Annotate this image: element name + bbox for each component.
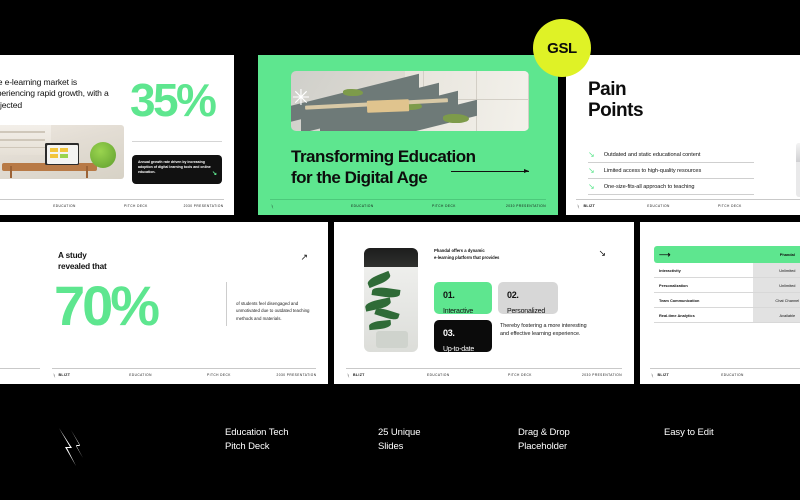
feature-easy-to-edit: Easy to Edit [664,426,714,440]
growth-note-text: Annual growth rate driven by increasing … [138,160,211,174]
feature-education-tech: Education Tech Pitch Deck [225,426,288,454]
feature-intro-line1: Phandal offers a dynamic [434,248,485,253]
feature-card-label: Personalized [507,308,549,315]
brand-logo: BLIZT [52,373,71,378]
slide-footer: EDUCATION PITCH DECK 2030 PRESENTATION [258,197,558,215]
arrow-down-right-icon: ↘ [588,167,595,175]
growth-photo [0,125,124,179]
footer-label-pitchdeck: PITCH DECK [124,204,148,208]
feature-card-label: Up-to-date [443,346,483,353]
feature-unique-slides: 25 Unique Slides [378,426,420,454]
table-cell-feature: Team Communication [654,293,753,307]
lightning-logo-icon [270,204,275,209]
slide-pain-points[interactable]: PainPoints ↘ Outdated and static educati… [566,55,800,215]
table-cell-phandal: Available [753,308,800,322]
study-stat-value: 70% [54,278,157,334]
list-item: ↘ Limited access to high-quality resourc… [588,163,754,179]
feature-intro-line2: e-learning platform that provides [434,255,499,260]
feature-card-number: 01. [443,290,483,300]
diagonal-arrow-icon: ↘ [212,170,217,179]
sparkle-icon: ✳ [290,87,312,109]
footer-label-education: EDUCATION [351,204,374,208]
slide-study-stat[interactable]: A studyrevealed that ↗ 70% of students f… [40,222,328,384]
footer-label-presentation: 2030 PRESENTATION [506,204,546,208]
study-divider [226,282,227,326]
table-cell-feature: Real-time Analytics [654,308,753,322]
slide-footer: BLIZT EDUCATION PITCH DECK 2030 PRESENTA… [40,366,328,384]
footer-label-education: EDUCATION [647,204,670,208]
table-row: Interactivity Unlimited 200 To Do's [654,263,800,278]
list-item-label: Limited access to high-quality resources [604,168,702,174]
hero-title-line2: for the Digital Age [291,168,427,187]
growth-divider [132,141,222,142]
slide-footer: EDUCATION PITCH DECK 2030 PRESENTATION [0,197,234,215]
feature-line1: Easy to Edit [664,427,714,438]
slide-footer: BLIZT EDUCATION [640,366,800,384]
brand-monogram-icon [52,428,88,466]
table-row: Team Communication Chat Channel Chat [654,293,800,308]
slide-footer: BLIZT EDUCATION PITCH DECK [566,197,800,215]
footer-label-pitchdeck: PITCH DECK [207,373,231,377]
hero-photo [291,71,529,131]
footer-label-presentation: 2030 PRESENTATION [184,204,224,208]
pain-side-photo [796,143,800,197]
study-kicker-line1: A study [58,251,87,260]
pain-title-line2: Points [588,100,643,121]
bottom-bar: Education Tech Pitch Deck 25 Unique Slid… [0,390,800,500]
feature-outro: Thereby fostering a more interesting and… [500,322,594,339]
feature-card-01[interactable]: 01. Interactive [434,282,492,314]
comparison-table: ⟶ Phandal Tasky Interactivity Unlimited … [654,246,800,323]
footer-label-presentation: 2030 PRESENTATION [582,373,622,377]
feature-line2: Pitch Deck [225,441,269,452]
study-kicker: A studyrevealed that [58,250,107,272]
slide-hero-title[interactable]: ✳ Transforming Educationfor the Digital … [258,55,558,215]
pain-title-line1: Pain [588,79,626,100]
feature-drag-drop: Drag & Drop Placeholder [518,426,570,454]
footer-label-pitchdeck: PITCH DECK [718,204,742,208]
feature-line2: Slides [378,441,403,452]
study-description: of students feel disengaged and unmotiva… [236,300,320,322]
table-cell-feature: Interactivity [654,263,753,277]
brand-logo-text: BLIZT [657,373,669,377]
right-arrow-icon [451,171,529,172]
footer-label-pitchdeck: PITCH DECK [432,204,456,208]
footer-label-pitchdeck: PITCH DECK [508,373,532,377]
table-cell-feature: Personalization [654,278,753,292]
footer-label-education: EDUCATION [721,373,744,377]
feature-line2: Placeholder [518,441,567,452]
feature-line1: 25 Unique [378,427,420,438]
lightning-logo-icon [52,373,57,378]
footer-label-education: EDUCATION [129,373,152,377]
arrow-up-right-icon: ↗ [300,252,308,263]
footer-label-education: EDUCATION [53,204,76,208]
feature-intro: Phandal offers a dynamice-learning platf… [434,248,530,261]
table-row: Personalization Unlimited X [654,278,800,293]
brand-logo [270,204,275,209]
arrow-down-right-icon: ↘ [588,151,595,159]
table-row: Real-time Analytics Available X [654,308,800,323]
feature-photo [364,248,418,352]
table-cell-phandal: Unlimited [753,278,800,292]
long-right-arrow-icon: ⟶ [659,251,670,259]
growth-note-card: Annual growth rate driven by increasing … [132,155,222,184]
table-header-arrow-cell: ⟶ [654,246,753,263]
feature-line1: Drag & Drop [518,427,570,438]
table-cell-phandal: Chat Channel [753,293,800,307]
growth-stat-value: 35% [130,77,214,123]
brand-logo: BLIZT [650,373,669,378]
feature-card-number: 03. [443,328,483,338]
footer-label-education: EDUCATION [427,373,450,377]
lightning-logo-icon [576,204,581,209]
brand-logo-text: BLIZT [59,373,71,377]
footer-label-presentation: 2030 PRESENTATION [277,373,317,377]
slide-feature-cards[interactable]: Phandal offers a dynamice-learning platf… [334,222,634,384]
list-item: ↘ Outdated and static educational conten… [588,147,754,163]
slide-growth-stat[interactable]: The e-learning market is experiencing ra… [0,55,234,215]
slide-comparison-table[interactable]: ⟶ Phandal Tasky Interactivity Unlimited … [640,222,800,384]
arrow-down-right-icon: ↘ [588,183,595,191]
pain-points-title: PainPoints [588,79,643,122]
feature-card-02[interactable]: 02. Personalized [498,282,558,314]
table-header-row: ⟶ Phandal Tasky [654,246,800,263]
study-kicker-line2: revealed that [58,262,107,271]
feature-card-label: Interactive [443,308,483,315]
list-item-label: One-size-fits-all approach to teaching [604,184,695,190]
feature-card-number: 02. [507,290,549,300]
list-item-label: Outdated and static educational content [604,152,701,158]
feature-line1: Education Tech [225,427,288,438]
lightning-logo-icon [650,373,655,378]
brand-logo: BLIZT [576,204,595,209]
pain-points-list: ↘ Outdated and static educational conten… [588,147,754,195]
brand-logo-text: BLIZT [583,204,595,208]
poster-stage: The e-learning market is experiencing ra… [0,0,800,500]
growth-lead-text: The e-learning market is experiencing ra… [0,77,114,111]
table-cell-phandal: Unlimited [753,263,800,277]
brand-logo: BLIZT [346,373,365,378]
list-item: ↘ One-size-fits-all approach to teaching [588,179,754,195]
table-header-phandal: Phandal [753,246,800,263]
brand-logo-text: BLIZT [353,373,365,377]
hero-title-line1: Transforming Education [291,147,476,166]
lightning-logo-icon [346,373,351,378]
arrow-down-right-icon: ↘ [598,248,606,259]
slide-footer: BLIZT EDUCATION PITCH DECK 2030 PRESENTA… [334,366,634,384]
hero-title: Transforming Educationfor the Digital Ag… [291,147,501,188]
gsl-badge[interactable]: GSL [533,19,591,77]
feature-card-03[interactable]: 03. Up-to-date [434,320,492,352]
